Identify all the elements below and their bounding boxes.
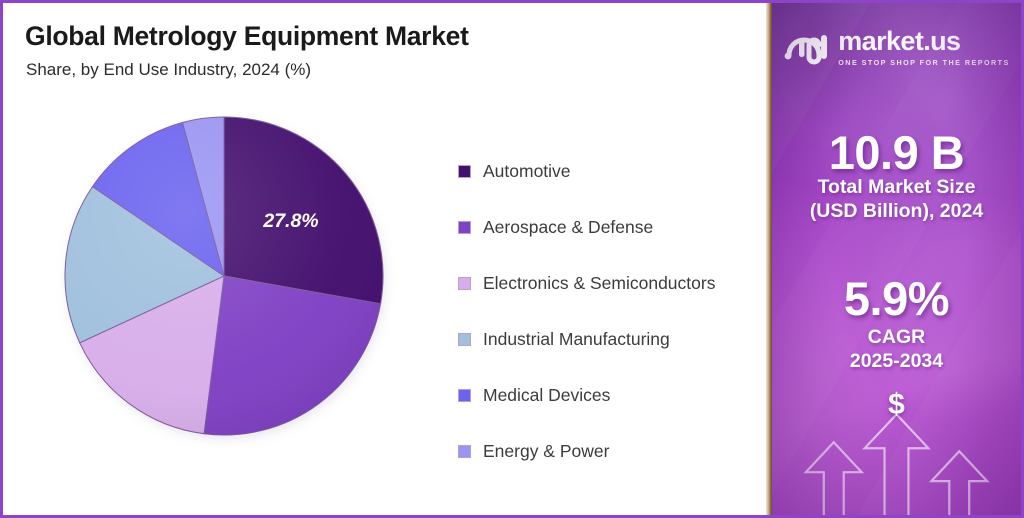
- market-size-value: 10.9 B: [772, 129, 1021, 176]
- pie-slices: [65, 117, 383, 435]
- market-size-caption: Total Market Size (USD Billion), 2024: [772, 176, 1021, 224]
- legend-swatch-icon: [458, 165, 471, 178]
- pie-chart-svg: 27.8%: [61, 113, 391, 443]
- cagr-stat: 5.9% CAGR 2025-2034: [772, 275, 1021, 374]
- stats-panel: market.us ONE STOP SHOP FOR THE REPORTS …: [772, 3, 1021, 515]
- legend-swatch-icon: [458, 445, 471, 458]
- legend-item-label: Electronics & Semiconductors: [483, 273, 715, 294]
- legend-swatch-icon: [458, 221, 471, 234]
- legend-swatch-icon: [458, 333, 471, 346]
- pie-slice[interactable]: [204, 276, 380, 435]
- legend-item[interactable]: Automotive: [458, 143, 715, 199]
- growth-arrows-graphic: $: [772, 380, 1021, 515]
- cagr-caption-line2: 2025-2034: [772, 350, 1021, 374]
- chart-legend: AutomotiveAerospace & DefenseElectronics…: [458, 143, 715, 479]
- legend-item-label: Aerospace & Defense: [483, 217, 653, 238]
- market-size-caption-line2: (USD Billion), 2024: [772, 200, 1021, 224]
- legend-item[interactable]: Aerospace & Defense: [458, 199, 715, 255]
- brand-name: market.us: [838, 28, 960, 55]
- dollar-sign-icon: $: [772, 388, 1021, 422]
- legend-item[interactable]: Medical Devices: [458, 367, 715, 423]
- legend-item[interactable]: Industrial Manufacturing: [458, 311, 715, 367]
- legend-item-label: Automotive: [483, 161, 571, 182]
- legend-item[interactable]: Electronics & Semiconductors: [458, 255, 715, 311]
- chart-panel: Global Metrology Equipment Market Share,…: [3, 3, 766, 515]
- pie-slice-data-label: 27.8%: [262, 210, 318, 232]
- cagr-value: 5.9%: [772, 275, 1021, 322]
- page-subtitle: Share, by End Use Industry, 2024 (%): [26, 60, 311, 80]
- cagr-caption: CAGR 2025-2034: [772, 326, 1021, 374]
- brand-text: market.us ONE STOP SHOP FOR THE REPORTS: [838, 28, 1009, 67]
- legend-swatch-icon: [458, 277, 471, 290]
- legend-item[interactable]: Energy & Power: [458, 423, 715, 479]
- brand-logo[interactable]: market.us ONE STOP SHOP FOR THE REPORTS: [772, 25, 1021, 69]
- market-us-bars-logo-icon: [783, 25, 829, 69]
- market-size-caption-line1: Total Market Size: [772, 176, 1021, 200]
- legend-item-label: Medical Devices: [483, 385, 610, 406]
- legend-item-label: Industrial Manufacturing: [483, 329, 670, 350]
- pie-chart: 27.8%: [61, 113, 391, 443]
- legend-swatch-icon: [458, 389, 471, 402]
- page-title: Global Metrology Equipment Market: [25, 21, 469, 52]
- brand-tagline: ONE STOP SHOP FOR THE REPORTS: [838, 58, 1009, 67]
- legend-item-label: Energy & Power: [483, 441, 609, 462]
- market-size-stat: 10.9 B Total Market Size (USD Billion), …: [772, 129, 1021, 224]
- infographic-root: Global Metrology Equipment Market Share,…: [0, 0, 1024, 518]
- cagr-caption-line1: CAGR: [772, 326, 1021, 350]
